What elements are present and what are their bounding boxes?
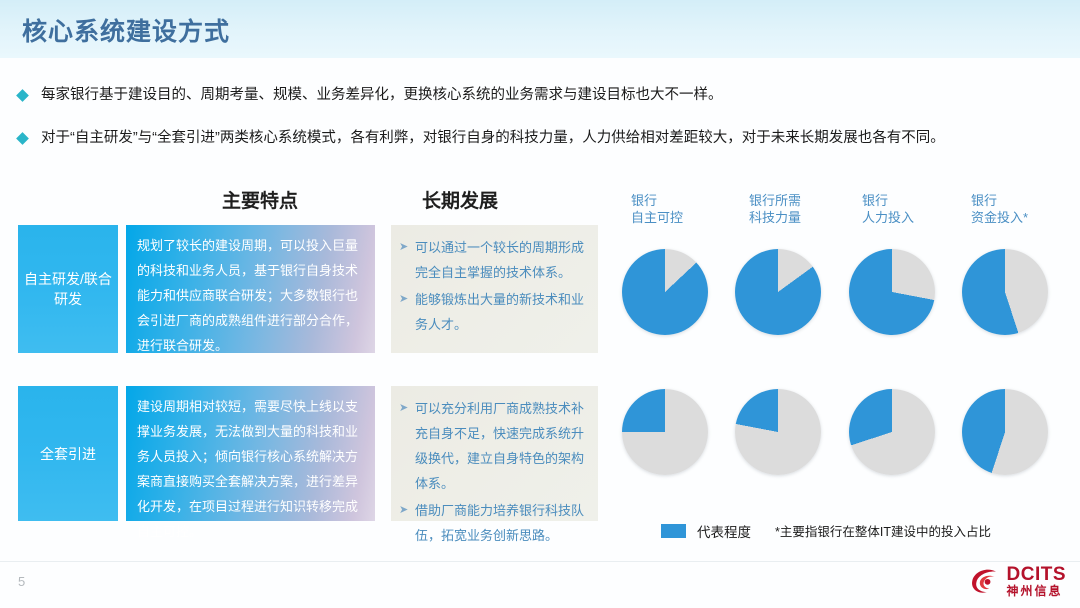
pie-heading-1: 银行所需 科技力量 bbox=[749, 192, 801, 226]
pie-chart bbox=[735, 249, 821, 335]
feature-cell: 规划了较长的建设周期，可以投入巨量的科技和业务人员，基于银行自身技术能力和供应商… bbox=[126, 225, 375, 353]
legend-label: 代表程度 bbox=[697, 521, 751, 541]
list-item-label: 可以充分利用厂商成熟技术补充自身不足，快速完成系统升级换代，建立自身特色的架构体… bbox=[415, 396, 588, 496]
company-logo: DCITS 神州信息 bbox=[968, 564, 1067, 598]
arrow-bullet-icon: ➤ bbox=[399, 287, 415, 312]
pie-chart bbox=[849, 249, 935, 335]
list-item: ➤ 借助厂商能力培养银行科技队伍，拓宽业务创新思路。 bbox=[399, 498, 588, 548]
pie-chart bbox=[622, 389, 708, 475]
footer-divider bbox=[0, 561, 1080, 562]
legend-swatch-icon bbox=[661, 524, 686, 538]
feature-cell: 建设周期相对较短，需要尽快上线以支撑业务发展，无法做到大量的科技和业务人员投入；… bbox=[126, 386, 375, 521]
chart-legend: 代表程度 bbox=[661, 521, 751, 541]
longterm-cell: ➤ 可以充分利用厂商成熟技术补充自身不足，快速完成系统升级换代，建立自身特色的架… bbox=[391, 386, 598, 521]
diamond-bullet-icon bbox=[16, 89, 29, 102]
bullet-item: 每家银行基于建设目的、周期考量、规模、业务差异化，更换核心系统的业务需求与建设目… bbox=[18, 88, 723, 103]
column-heading-longterm: 长期发展 bbox=[422, 186, 498, 213]
pie-heading-line2: 科技力量 bbox=[749, 209, 801, 226]
logo-subtitle: 神州信息 bbox=[1007, 584, 1067, 598]
bullet-item: 对于“自主研发”与“全套引进”两类核心系统模式，各有利弊，对银行自身的科技力量，… bbox=[18, 131, 945, 146]
arrow-bullet-icon: ➤ bbox=[399, 396, 415, 421]
pie-heading-line1: 银行 bbox=[971, 192, 1028, 209]
mode-cell: 全套引进 bbox=[18, 386, 118, 521]
page-title: 核心系统建设方式 bbox=[22, 12, 230, 48]
logo-name: DCITS bbox=[1007, 565, 1067, 584]
chart-footnote: *主要指银行在整体IT建设中的投入占比 bbox=[775, 521, 991, 540]
pie-chart bbox=[962, 249, 1048, 335]
arrow-bullet-icon: ➤ bbox=[399, 498, 415, 523]
pie-heading-line2: 人力投入 bbox=[862, 209, 914, 226]
pie-heading-0: 银行 自主可控 bbox=[631, 192, 683, 226]
slide-canvas: 核心系统建设方式 每家银行基于建设目的、周期考量、规模、业务差异化，更换核心系统… bbox=[0, 0, 1080, 608]
pie-heading-line1: 银行所需 bbox=[749, 192, 801, 209]
mode-cell: 自主研发/联合研发 bbox=[18, 225, 118, 353]
longterm-cell: ➤ 可以通过一个较长的周期形成完全自主掌握的技术体系。 ➤ 能够锻炼出大量的新技… bbox=[391, 225, 598, 353]
list-item-label: 借助厂商能力培养银行科技队伍，拓宽业务创新思路。 bbox=[415, 498, 588, 548]
bullet-text: 每家银行基于建设目的、周期考量、规模、业务差异化，更换核心系统的业务需求与建设目… bbox=[41, 88, 723, 103]
logo-text: DCITS 神州信息 bbox=[1007, 565, 1067, 598]
list-item: ➤ 可以充分利用厂商成熟技术补充自身不足，快速完成系统升级换代，建立自身特色的架… bbox=[399, 396, 588, 496]
pie-heading-line1: 银行 bbox=[631, 192, 683, 209]
pie-chart bbox=[849, 389, 935, 475]
list-item: ➤ 能够锻炼出大量的新技术和业务人才。 bbox=[399, 287, 588, 337]
page-number: 5 bbox=[18, 574, 25, 589]
pie-chart bbox=[622, 249, 708, 335]
pie-heading-line2: 自主可控 bbox=[631, 209, 683, 226]
pie-heading-line2: 资金投入* bbox=[971, 209, 1028, 226]
dcits-swirl-icon bbox=[968, 564, 1002, 598]
list-item: ➤ 可以通过一个较长的周期形成完全自主掌握的技术体系。 bbox=[399, 235, 588, 285]
list-item-label: 可以通过一个较长的周期形成完全自主掌握的技术体系。 bbox=[415, 235, 588, 285]
arrow-bullet-icon: ➤ bbox=[399, 235, 415, 260]
pie-heading-3: 银行 资金投入* bbox=[971, 192, 1028, 226]
pie-chart bbox=[735, 389, 821, 475]
pie-heading-2: 银行 人力投入 bbox=[862, 192, 914, 226]
diamond-bullet-icon bbox=[16, 132, 29, 145]
column-heading-features: 主要特点 bbox=[222, 186, 298, 213]
list-item-label: 能够锻炼出大量的新技术和业务人才。 bbox=[415, 287, 588, 337]
pie-heading-line1: 银行 bbox=[862, 192, 914, 209]
pie-chart bbox=[962, 389, 1048, 475]
bullet-text: 对于“自主研发”与“全套引进”两类核心系统模式，各有利弊，对银行自身的科技力量，… bbox=[41, 131, 945, 146]
